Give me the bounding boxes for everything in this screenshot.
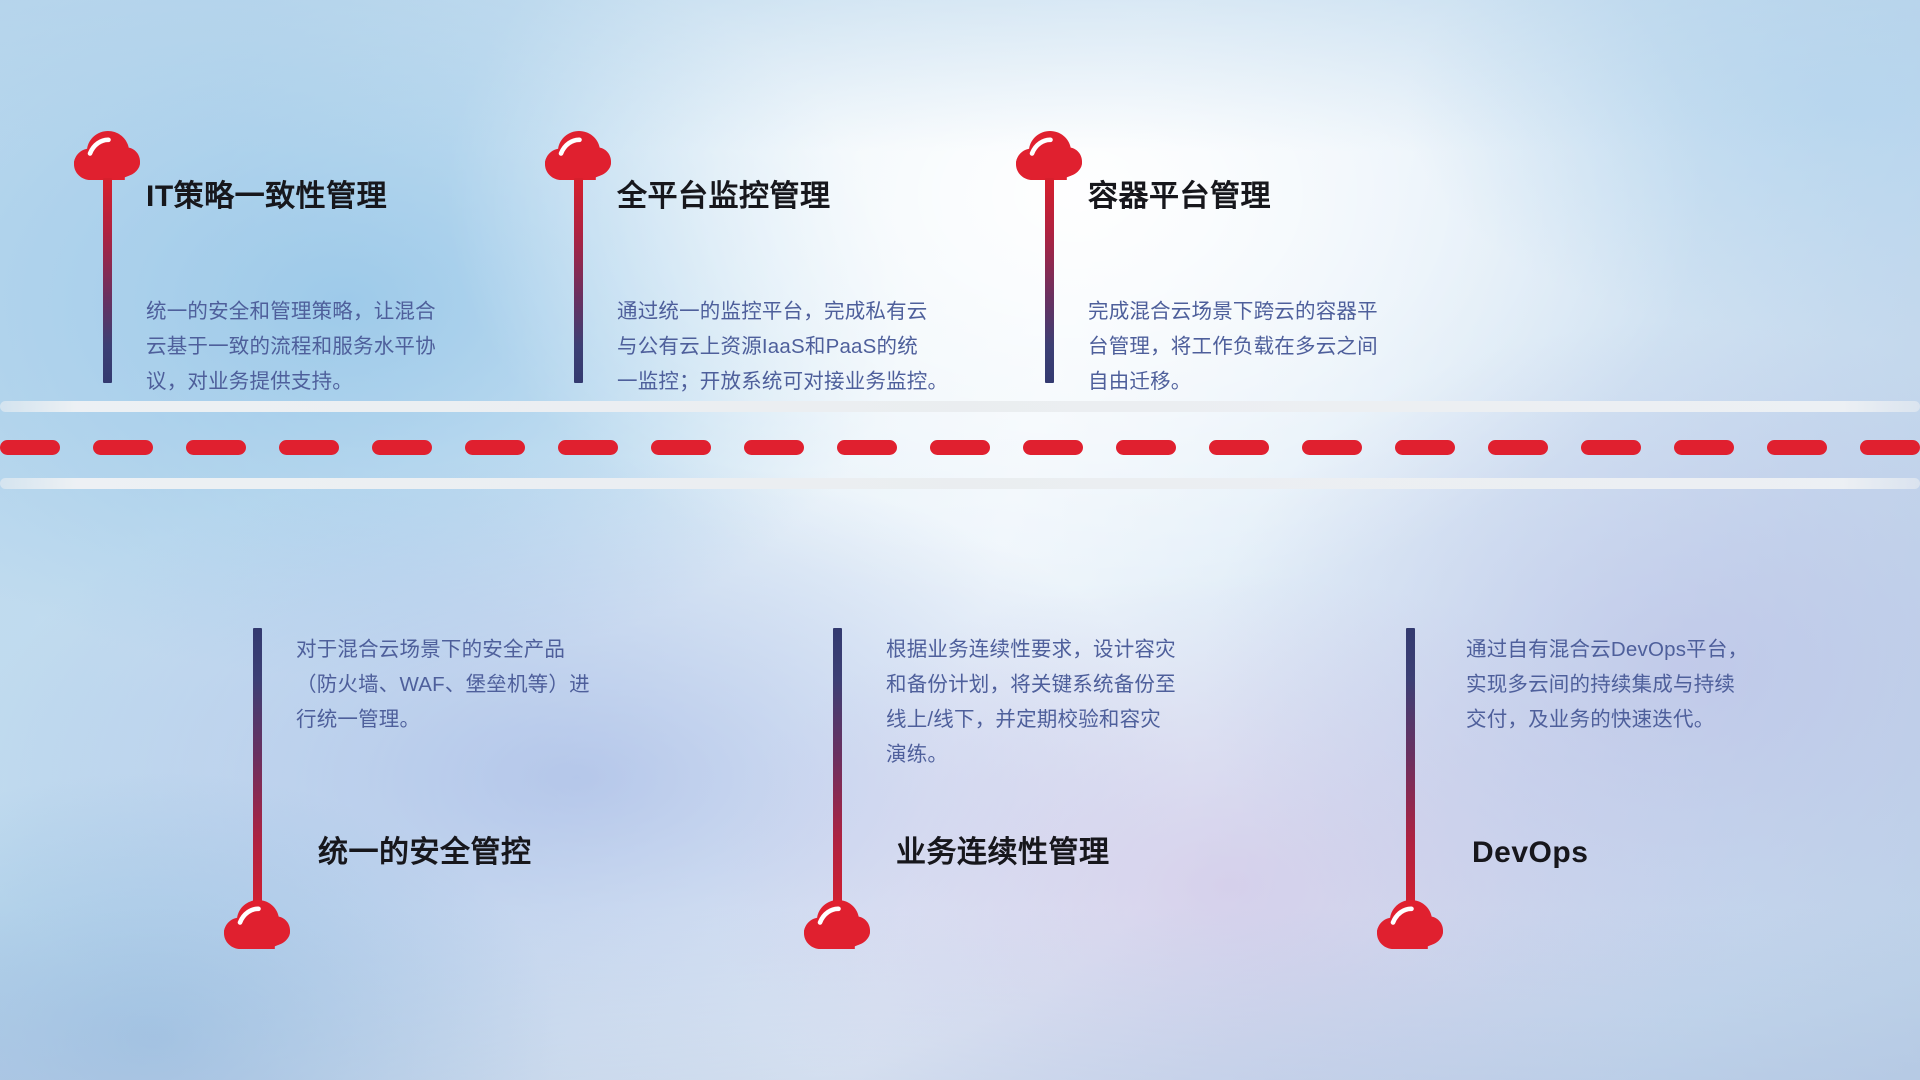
cloud-icon [1016, 131, 1082, 181]
divider-dash [1767, 440, 1827, 455]
card-heading: 全平台监控管理 [617, 182, 831, 212]
divider-dash [372, 440, 432, 455]
divider-dashed-line [0, 440, 1920, 455]
card-heading: 业务连续性管理 [896, 838, 1110, 868]
divider-dash [1860, 440, 1920, 455]
divider-dash [279, 440, 339, 455]
card-body: 对于混合云场景下的安全产品 （防火墙、WAF、堡垒机等）进 行统一管理。 [296, 632, 716, 737]
divider-dash [186, 440, 246, 455]
divider-dash [1488, 440, 1548, 455]
divider-dash [1116, 440, 1176, 455]
divider-dash [558, 440, 618, 455]
cloud-icon [1377, 900, 1443, 950]
cloud-icon [74, 131, 140, 181]
timeline-bar [1406, 628, 1415, 918]
divider-dash [1209, 440, 1269, 455]
card-body: 完成混合云场景下跨云的容器平 台管理，将工作负载在多云之间 自由迁移。 [1088, 294, 1468, 399]
divider-dash [1023, 440, 1083, 455]
timeline-bar [253, 628, 262, 918]
divider-dash [1674, 440, 1734, 455]
cloud-icon [804, 900, 870, 950]
divider-dash [0, 440, 60, 455]
card-body: 根据业务连续性要求，设计容灾 和备份计划，将关键系统备份至 线上/线下，并定期校… [886, 632, 1306, 772]
divider-dash [1581, 440, 1641, 455]
divider-dash [465, 440, 525, 455]
card-heading: 统一的安全管控 [318, 838, 532, 868]
card-heading: DevOps [1472, 838, 1588, 868]
divider-dash [1302, 440, 1362, 455]
divider-dash [1395, 440, 1455, 455]
timeline-bar [1045, 178, 1054, 383]
timeline-bar [574, 178, 583, 383]
card-heading: IT策略一致性管理 [146, 182, 387, 212]
cloud-icon [224, 900, 290, 950]
timeline-bar [833, 628, 842, 918]
infographic-canvas: IT策略一致性管理 统一的安全和管理策略，让混合 云基于一致的流程和服务水平协 … [0, 0, 1920, 1080]
timeline-bar [103, 178, 112, 383]
cloud-icon [545, 131, 611, 181]
divider-dash [837, 440, 897, 455]
card-body: 统一的安全和管理策略，让混合 云基于一致的流程和服务水平协 议，对业务提供支持。 [146, 294, 516, 399]
card-body: 通过自有混合云DevOps平台， 实现多云间的持续集成与持续 交付，及业务的快速… [1466, 632, 1886, 737]
card-heading: 容器平台管理 [1088, 182, 1271, 212]
divider-dash [930, 440, 990, 455]
divider-dash [651, 440, 711, 455]
divider-rail-bottom [0, 478, 1920, 489]
card-body: 通过统一的监控平台，完成私有云 与公有云上资源IaaS和PaaS的统 一监控；开… [617, 294, 1017, 399]
divider-dash [744, 440, 804, 455]
divider-dash [93, 440, 153, 455]
divider-rail-top [0, 401, 1920, 412]
